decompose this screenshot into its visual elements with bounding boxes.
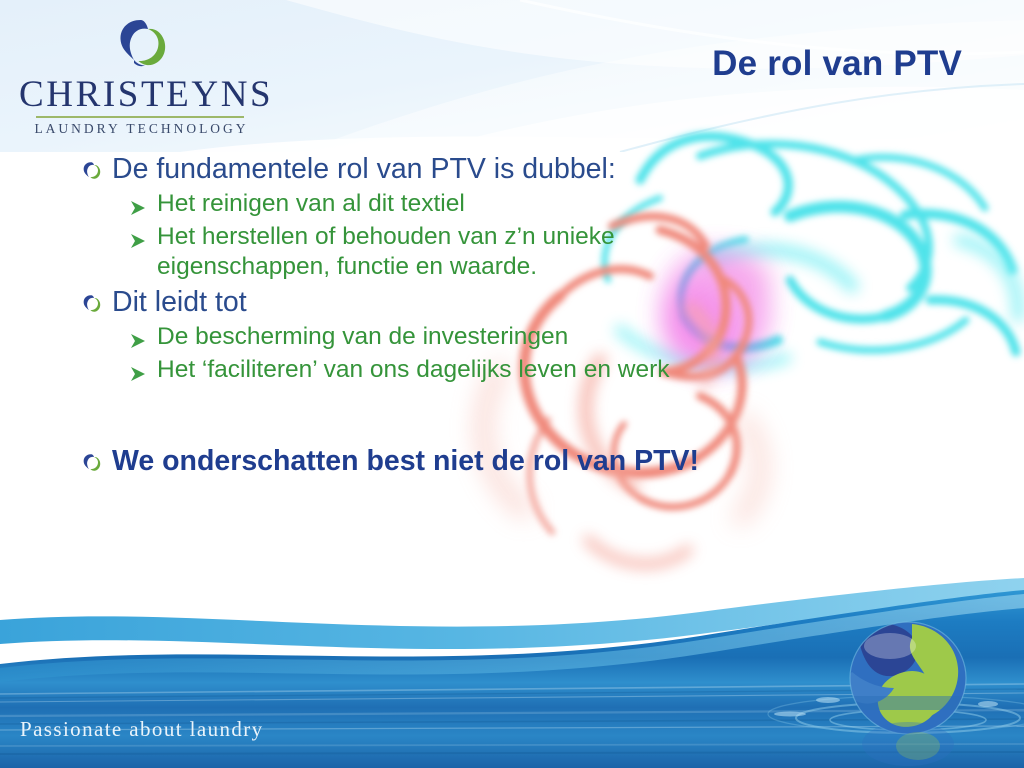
content-spacer [0, 388, 1024, 444]
bullet-conclusion: We onderschatten best niet de rol van PT… [0, 444, 1024, 479]
green-arrowhead-icon [128, 231, 148, 251]
bullet-level2-text: Het herstellen of behouden van z’n uniek… [157, 222, 789, 284]
bullet-level2: Het reinigen van al dit textiel [0, 189, 1024, 220]
bullet-conclusion-text: We onderschatten best niet de rol van PT… [112, 444, 699, 479]
bullet-level2: Het ‘faciliteren’ van ons dagelijks leve… [0, 355, 1024, 386]
bullet-level2: Het herstellen of behouden van z’n uniek… [0, 222, 1024, 284]
christeyns-swirl-bullet-icon [80, 160, 102, 182]
logo-tagline: LAUNDRY TECHNOLOGY [16, 121, 264, 137]
bullet-level2: De bescherming van de investeringen [0, 322, 1024, 353]
bullet-level2-text: De bescherming van de investeringen [157, 322, 568, 353]
slide-body: De fundamentele rol van PTV is dubbel: H… [0, 152, 1024, 481]
page-title: De rol van PTV [712, 44, 962, 84]
christeyns-swirl-bullet-icon [80, 293, 102, 315]
bullet-level1-text: Dit leidt tot [112, 285, 247, 320]
bullet-level1: Dit leidt tot [0, 285, 1024, 320]
presentation-slide: CHRISTEYNS LAUNDRY TECHNOLOGY De rol van… [0, 0, 1024, 768]
logo-wordmark: CHRISTEYNS [16, 76, 264, 113]
green-arrowhead-icon [128, 198, 148, 218]
green-arrowhead-icon [128, 364, 148, 384]
christeyns-globe-ball-icon [845, 622, 966, 766]
bullet-level1: De fundamentele rol van PTV is dubbel: [0, 152, 1024, 187]
logo-divider [36, 116, 244, 118]
christeyns-logo: CHRISTEYNS LAUNDRY TECHNOLOGY [16, 16, 264, 137]
bullet-level2-text: Het ‘faciliteren’ van ons dagelijks leve… [157, 355, 670, 386]
footer-tagline: Passionate about laundry [20, 717, 264, 742]
bullet-level1-text: De fundamentele rol van PTV is dubbel: [112, 152, 616, 187]
christeyns-swirl-bullet-icon [80, 452, 102, 474]
slide-footer: Passionate about laundry [0, 568, 1024, 768]
bullet-level2-text: Het reinigen van al dit textiel [157, 189, 465, 220]
christeyns-swirl-icon [108, 16, 172, 74]
green-arrowhead-icon [128, 331, 148, 351]
